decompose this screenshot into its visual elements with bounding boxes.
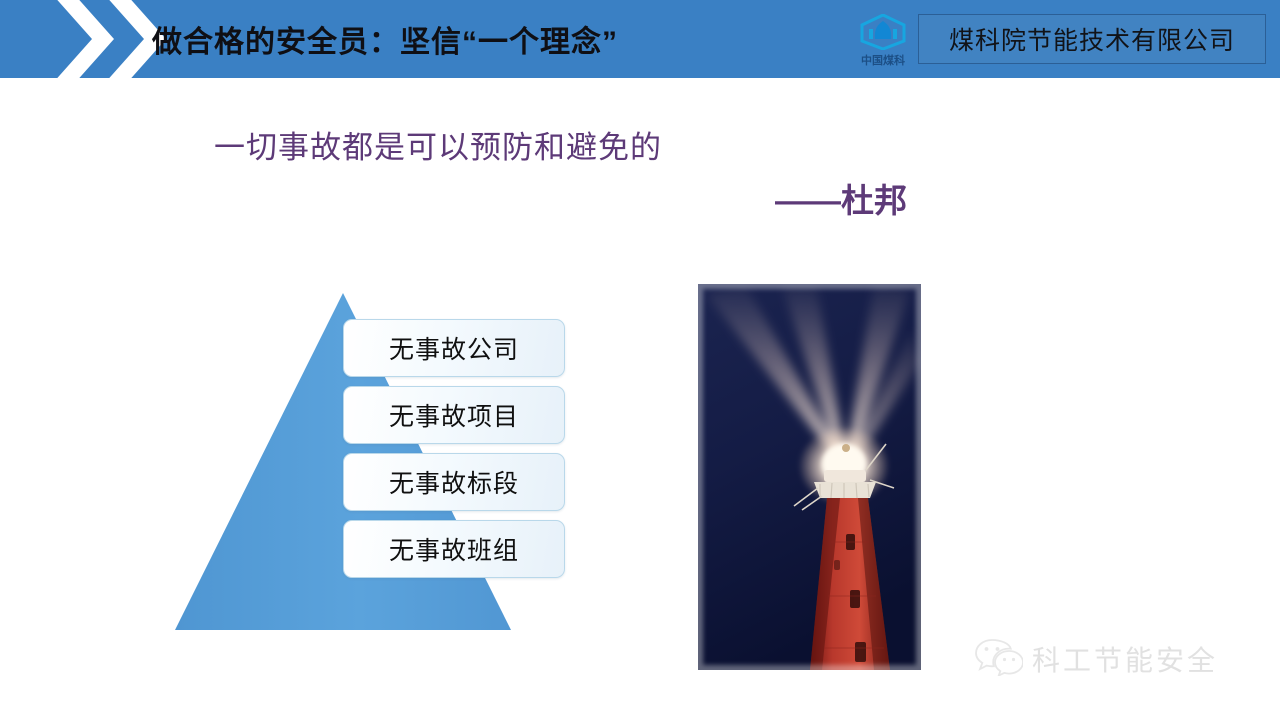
pyramid-level-3-label: 无事故标段 (389, 464, 519, 500)
pyramid-label-stack: 无事故公司 无事故项目 无事故标段 无事故班组 (343, 319, 565, 578)
wechat-icon (975, 636, 1023, 681)
pyramid-level-4-label: 无事故班组 (389, 531, 519, 567)
pyramid-level-1-label: 无事故公司 (389, 330, 519, 366)
brand-logo-label: 中国煤科 (861, 56, 905, 67)
quote-attribution: ——杜邦 (775, 174, 907, 222)
lighthouse-night-beams-photo (698, 284, 921, 670)
pyramid-level-1[interactable]: 无事故公司 (343, 319, 565, 377)
company-name-box: 煤科院节能技术有限公司 (918, 14, 1266, 64)
pyramid-diagram: 无事故公司 无事故项目 无事故标段 无事故班组 (170, 285, 590, 640)
brand-logo: 中国煤科 (845, 10, 921, 70)
china-coal-emblem-icon (860, 14, 906, 55)
pyramid-level-2[interactable]: 无事故项目 (343, 386, 565, 444)
watermark-label: 科工节能安全 (1032, 639, 1218, 679)
page-title: 做合格的安全员：坚信“一个理念” (152, 0, 618, 78)
pyramid-level-3[interactable]: 无事故标段 (343, 453, 565, 511)
quote-text: 一切事故都是可以预防和避免的 (214, 122, 662, 167)
pyramid-level-2-label: 无事故项目 (389, 397, 519, 433)
header-bar: 做合格的安全员：坚信“一个理念” 中国煤科 煤科院节能技术有限公司 (0, 0, 1280, 78)
watermark: 科工节能安全 (975, 636, 1218, 681)
pyramid-level-4[interactable]: 无事故班组 (343, 520, 565, 578)
